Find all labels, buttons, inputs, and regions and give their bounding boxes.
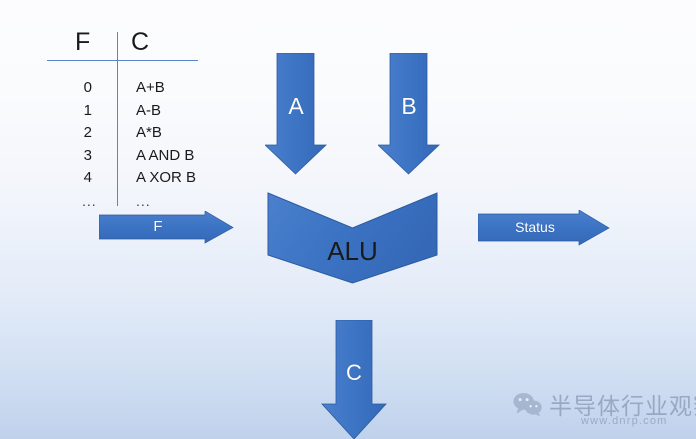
cell-c: A AND B: [136, 146, 194, 166]
cell-f: 0: [82, 78, 92, 98]
cell-c: A XOR B: [136, 168, 196, 188]
cell-f: 3: [82, 146, 92, 166]
function-table: F C 0 A+B 1 A-B 2 A*B 3 A AND B 4 A XOR …: [44, 14, 219, 209]
cell-c: A-B: [136, 101, 161, 121]
cell-f: 1: [82, 101, 92, 121]
watermark-url: www.dnrp.com: [581, 415, 668, 427]
watermark: 半导体行业观察 www.dnrp.com: [505, 385, 693, 435]
cell-c: ...: [136, 191, 151, 211]
arrow-b: B: [378, 53, 440, 175]
table-row: 1 A-B: [44, 101, 219, 124]
arrow-right-icon: [478, 210, 609, 245]
alu-label: ALU: [265, 238, 440, 264]
table-body: 0 A+B 1 A-B 2 A*B 3 A AND B 4 A XOR B ..…: [44, 78, 219, 213]
arrow-a: A: [265, 53, 327, 175]
diagram-canvas: F C 0 A+B 1 A-B 2 A*B 3 A AND B 4 A XOR …: [0, 0, 696, 439]
alu-block: ALU: [265, 190, 440, 285]
table-header-f: F: [75, 30, 90, 55]
table-row: ... ...: [44, 191, 219, 214]
arrow-right-icon: [99, 211, 233, 243]
wechat-icon: [513, 391, 543, 417]
arrow-f: F: [99, 211, 234, 244]
arrow-status: Status: [478, 210, 610, 246]
table-header-rule: [47, 60, 198, 61]
cell-f: 2: [82, 123, 92, 143]
table-row: 2 A*B: [44, 123, 219, 146]
cell-f: 4: [82, 168, 92, 188]
cell-f: ...: [82, 191, 92, 211]
table-header-c: C: [131, 30, 149, 55]
arrow-down-icon: [378, 53, 439, 174]
arrow-down-icon: [265, 53, 326, 174]
arrow-down-icon: [322, 320, 386, 439]
table-row: 3 A AND B: [44, 146, 219, 169]
table-row: 0 A+B: [44, 78, 219, 101]
arrow-c: C: [321, 320, 387, 439]
cell-c: A*B: [136, 123, 162, 143]
table-row: 4 A XOR B: [44, 168, 219, 191]
cell-c: A+B: [136, 78, 165, 98]
